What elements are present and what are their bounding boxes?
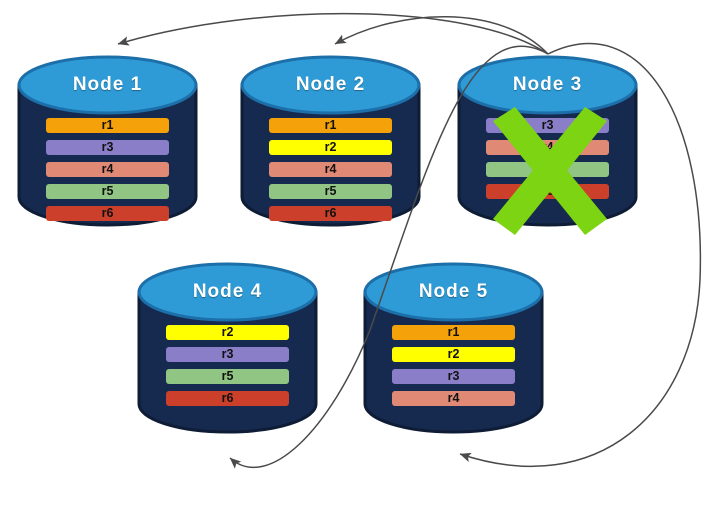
arrow-node3-to-node1 <box>118 14 548 54</box>
arrow-node3-to-node2 <box>335 17 548 54</box>
arrow-node3-to-node4 <box>230 46 548 467</box>
arrow-node3-to-node5 <box>460 44 700 467</box>
arrow-layer <box>0 0 708 508</box>
diagram-canvas: Node 1 r1r3r4r5r6 Node 2 r1r2r4r5r6 Node… <box>0 0 708 508</box>
